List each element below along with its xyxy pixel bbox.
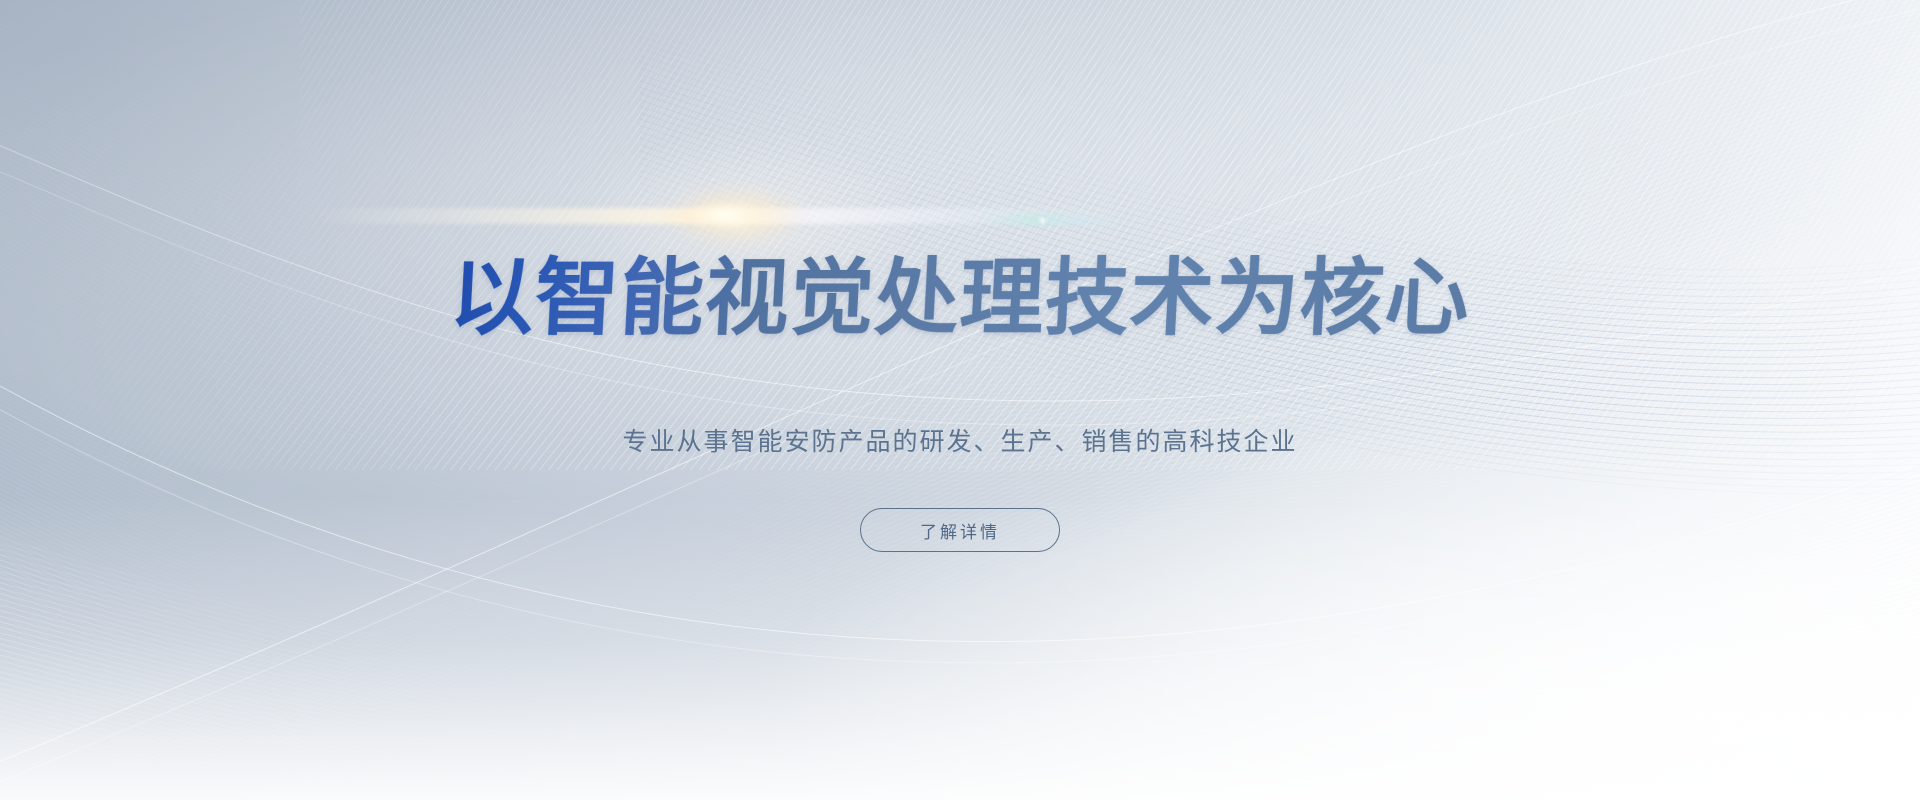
hero-banner: 以智能视觉处理技术为核心 专业从事智能安防产品的研发、生产、销售的高科技企业 了… <box>0 0 1920 800</box>
learn-more-button[interactable]: 了解详情 <box>860 508 1060 552</box>
hero-subtitle: 专业从事智能安防产品的研发、生产、销售的高科技企业 <box>0 425 1920 459</box>
hero-content: 以智能视觉处理技术为核心 专业从事智能安防产品的研发、生产、销售的高科技企业 了… <box>0 0 1920 800</box>
cta-container: 了解详情 <box>0 508 1920 552</box>
page-title: 以智能视觉处理技术为核心 <box>0 250 1920 346</box>
